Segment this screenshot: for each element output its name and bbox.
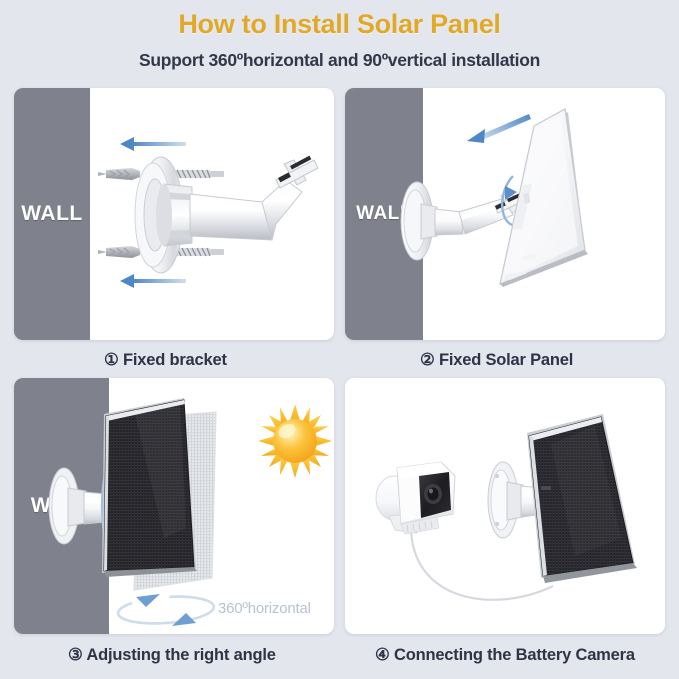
solar-panel-front-icon: [102, 398, 197, 577]
step-card-4: [345, 378, 665, 634]
diagonal-arrow-icon: [467, 114, 531, 143]
solar-panel-front-icon-4: [527, 414, 637, 583]
thumb-screw-icon: [276, 156, 318, 188]
wall-anchor-upper-icon: [98, 168, 140, 180]
step-caption-4: ④ Connecting the Battery Camera: [375, 645, 635, 665]
step-card-3: WALL: [14, 378, 334, 634]
left-arrow-top-icon: [120, 137, 186, 151]
horizontal-rotation-arrow-icon: [117, 594, 215, 627]
charging-cable-icon: [411, 526, 553, 600]
step-card-1: WALL: [14, 88, 334, 340]
scene-adjust-angle: [14, 378, 334, 634]
step-caption-1: ① Fixed bracket: [104, 350, 227, 370]
bracket-socket-icon: [156, 184, 192, 246]
scene-fixed-bracket: [14, 88, 334, 340]
bracket-arm-icon: [190, 180, 302, 240]
page-title: How to Install Solar Panel: [0, 9, 679, 40]
step-caption-3: ③ Adjusting the right angle: [68, 645, 276, 665]
page-subtitle: Support 360ºhorizontal and 90ºvertical i…: [0, 50, 679, 71]
scene-connect-camera: [345, 378, 665, 634]
wall-anchor-lower-icon: [98, 246, 140, 258]
step-card-2: WALL: [345, 88, 665, 340]
battery-camera-icon: [376, 462, 455, 534]
step-caption-2: ② Fixed Solar Panel: [420, 350, 573, 370]
infographic-page: How to Install Solar Panel Support 360ºh…: [0, 0, 679, 679]
screw-upper-icon: [170, 170, 224, 178]
sun-icon: [258, 404, 332, 478]
left-arrow-bottom-icon: [120, 274, 186, 288]
rotation-label-360: 360ºhorizontal: [218, 600, 311, 617]
scene-fixed-solar-panel: [345, 88, 665, 340]
